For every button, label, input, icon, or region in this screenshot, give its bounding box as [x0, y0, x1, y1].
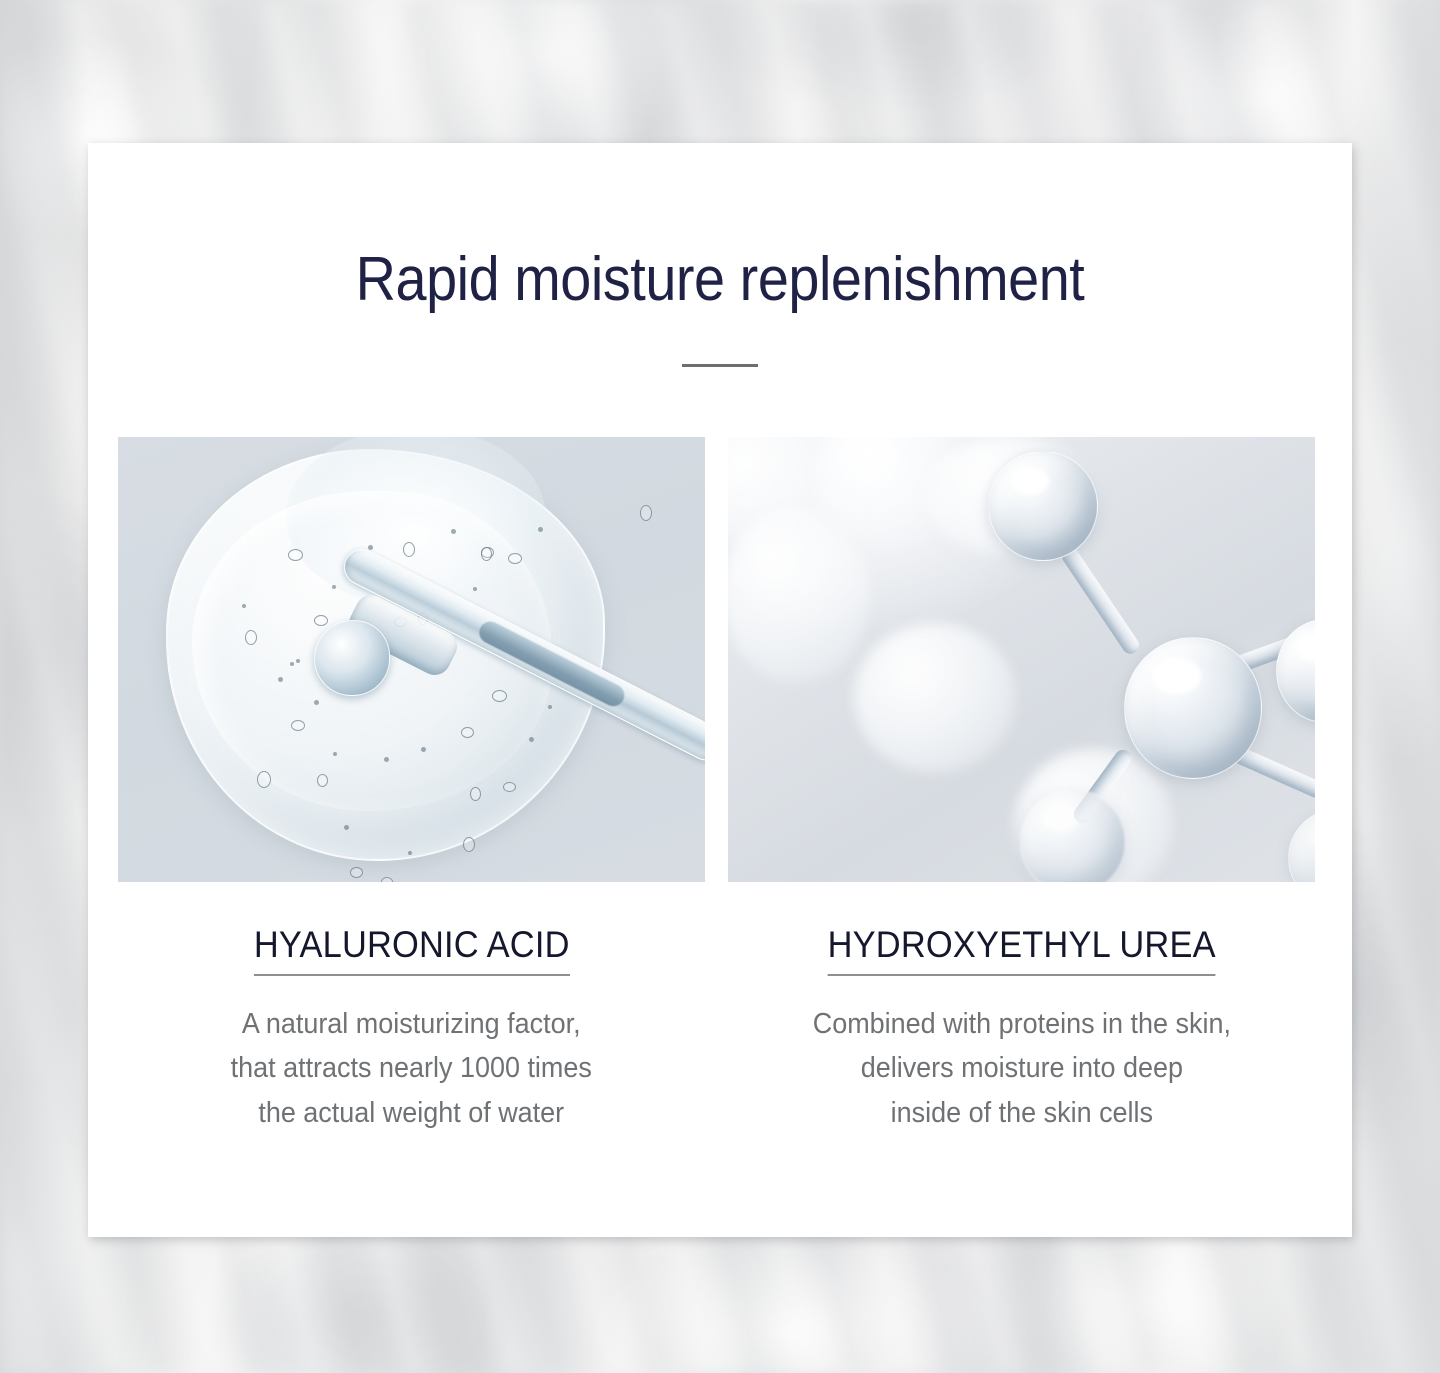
ingredient-description-line-1: A natural moisturizing factor, — [231, 1002, 592, 1046]
ingredient-heading-text: HYALURONIC ACID — [254, 924, 570, 965]
ingredient-description-line-1: Combined with proteins in the skin, — [812, 1002, 1230, 1046]
hyaluronic-acid-gel-dropper-photo — [118, 437, 705, 882]
ingredient-heading: HYDROXYETHYL UREA — [827, 924, 1215, 976]
ingredient-description: Combined with proteins in the skin, deli… — [812, 1002, 1230, 1135]
ingredient-column-hydroxyethyl-urea: HYDROXYETHYL UREA Combined with proteins… — [728, 437, 1315, 1135]
title-divider — [682, 364, 758, 367]
molecule-atom-bottom-right — [1288, 809, 1315, 882]
molecule-atom-right-edge — [1276, 619, 1315, 723]
molecule-atom-center — [1124, 637, 1262, 779]
ingredient-description-line-2: that attracts nearly 1000 times — [231, 1046, 592, 1090]
ingredient-heading-text: HYDROXYETHYL UREA — [827, 924, 1215, 965]
ingredient-description-line-3: the actual weight of water — [231, 1091, 592, 1135]
page-title: Rapid moisture replenishment — [151, 247, 1289, 312]
ingredient-heading: HYALURONIC ACID — [254, 924, 570, 976]
ingredient-heading-underline — [254, 974, 570, 976]
ingredient-description-line-2: delivers moisture into deep — [812, 1046, 1230, 1090]
pipette-tip-drop — [314, 620, 390, 696]
ingredient-description-line-3: inside of the skin cells — [812, 1091, 1230, 1135]
molecule-atom-top — [988, 451, 1098, 561]
product-info-card: Rapid moisture replenishment — [88, 143, 1352, 1237]
hydroxyethyl-urea-molecule-photo — [728, 437, 1315, 882]
ingredient-column-hyaluronic-acid: HYALURONIC ACID A natural moisturizing f… — [118, 437, 705, 1135]
title-block: Rapid moisture replenishment — [88, 247, 1352, 367]
ingredient-columns: HYALURONIC ACID A natural moisturizing f… — [118, 437, 1322, 1135]
ingredient-description: A natural moisturizing factor, that attr… — [231, 1002, 592, 1135]
page-root: Rapid moisture replenishment — [0, 0, 1440, 1373]
ingredient-heading-underline — [827, 974, 1215, 976]
molecule-bond-top — [1059, 545, 1142, 657]
